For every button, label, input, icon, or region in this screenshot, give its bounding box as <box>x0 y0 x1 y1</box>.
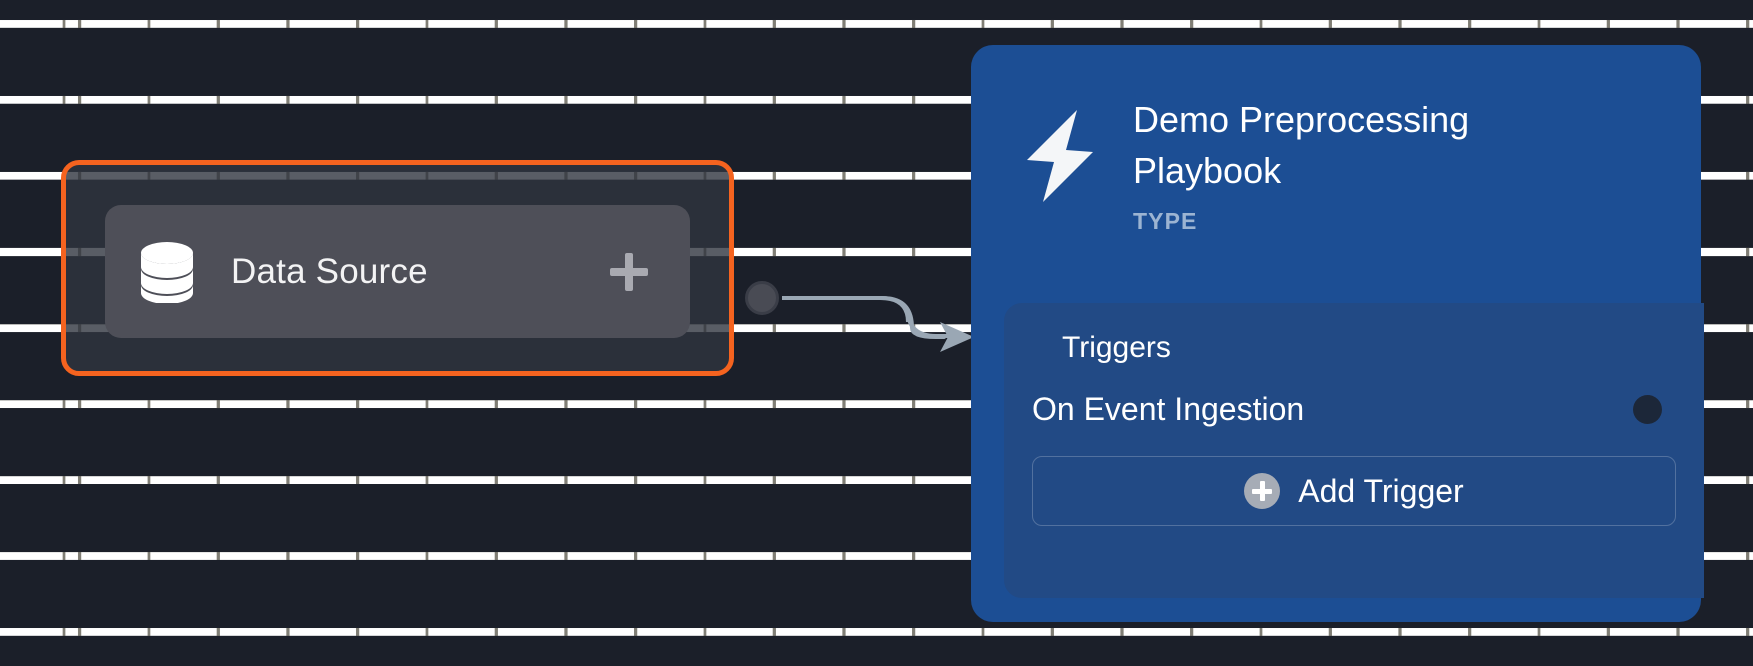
page-title: Demo Preprocessing Playbook <box>1133 94 1533 196</box>
plus-circle-icon <box>1244 473 1280 509</box>
add-trigger-label: Add Trigger <box>1298 473 1463 510</box>
trigger-list-item[interactable]: On Event Ingestion <box>1004 391 1704 428</box>
data-source-node[interactable]: Data Source <box>105 205 690 338</box>
playbook-card[interactable]: Demo Preprocessing Playbook TYPE Trigger… <box>971 45 1701 622</box>
trigger-output-dot[interactable] <box>1633 395 1662 424</box>
workflow-canvas[interactable]: Data Source Demo Preprocessing Playbook … <box>0 0 1753 666</box>
playbook-card-header: Demo Preprocessing Playbook TYPE <box>971 45 1701 235</box>
add-trigger-button[interactable]: Add Trigger <box>1032 456 1676 526</box>
playbook-card-titles: Demo Preprocessing Playbook TYPE <box>1133 90 1661 235</box>
lightning-bolt-icon <box>1021 110 1099 202</box>
plus-icon[interactable] <box>610 253 648 291</box>
data-source-label: Data Source <box>231 252 610 292</box>
triggers-heading: Triggers <box>1062 331 1704 365</box>
connector-handle[interactable] <box>745 281 779 315</box>
data-source-node-selection[interactable]: Data Source <box>61 160 734 376</box>
database-icon <box>139 241 195 303</box>
triggers-panel: Triggers On Event Ingestion Add Trigger <box>1004 303 1704 598</box>
playbook-type-label: TYPE <box>1133 208 1661 235</box>
trigger-label: On Event Ingestion <box>1032 391 1633 428</box>
arrow-head <box>940 322 974 352</box>
